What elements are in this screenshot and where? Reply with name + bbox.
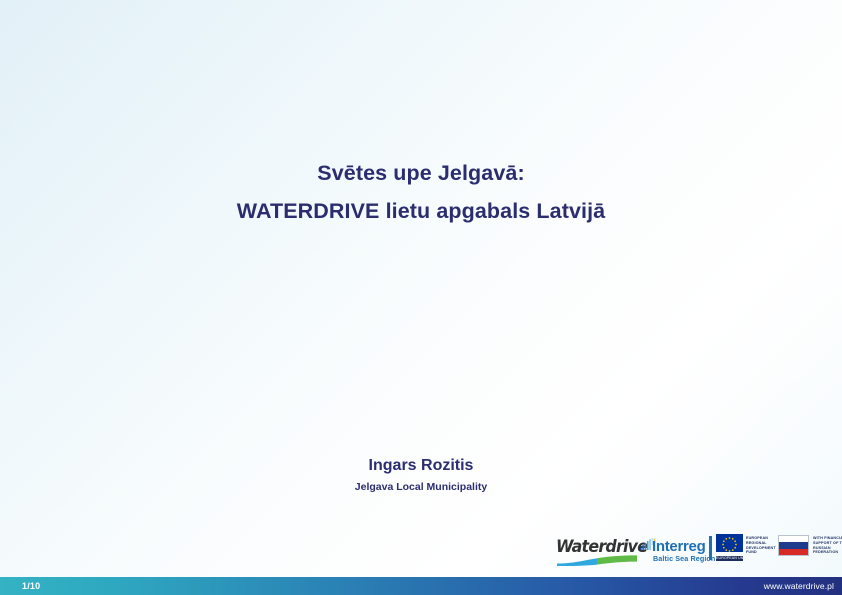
interreg-logo: Interreg Baltic Sea Region: [640, 534, 712, 568]
author-affiliation: Jelgava Local Municipality: [0, 479, 842, 495]
eu-fund-text: EUROPEAN REGIONAL DEVELOPMENT FUND: [746, 536, 776, 555]
interreg-wordmark: Interreg: [652, 538, 705, 555]
author-block: Ingars Rozitis Jelgava Local Municipalit…: [0, 455, 842, 495]
presentation-slide: Svētes upe Jelgavā: WATERDRIVE lietu apg…: [0, 0, 842, 595]
waterdrive-wordmark: Waterdrive: [556, 537, 635, 556]
title-block: Svētes upe Jelgavā: WATERDRIVE lietu apg…: [0, 158, 842, 227]
russian-flag-icon: [778, 535, 809, 556]
interreg-divider: [709, 536, 712, 560]
eu-fund-line-4: FUND: [746, 550, 776, 555]
russia-text-line-2: SUPPORT OF THE: [813, 541, 842, 546]
author-name: Ingars Rozitis: [0, 455, 842, 477]
page-indicator: 1/10: [22, 581, 40, 591]
russia-support-text: WITH FINANCIAL SUPPORT OF THE RUSSIAN FE…: [813, 536, 842, 555]
footer-url[interactable]: www.waterdrive.pl: [764, 581, 834, 591]
russia-text-line-4: FEDERATION: [813, 550, 842, 555]
eu-logo: EUROPEAN UNION EUROPEAN REGIONAL DEVELOP…: [716, 534, 773, 568]
eu-flag-caption: EUROPEAN UNION: [716, 556, 743, 561]
logo-strip: Waterdrive Interreg Baltic Sea Region: [556, 531, 840, 571]
waterdrive-wave-icon: [557, 555, 637, 566]
interreg-subtitle: Baltic Sea Region: [653, 554, 715, 563]
page-title-line-1: Svētes upe Jelgavā:: [0, 158, 842, 189]
eu-flag-wrap: EUROPEAN UNION: [716, 534, 743, 561]
russia-support-logo: WITH FINANCIAL SUPPORT OF THE RUSSIAN FE…: [778, 534, 842, 568]
eu-flag-icon: [716, 534, 743, 552]
flag-stripe-red: [779, 549, 808, 555]
page-title-line-2: WATERDRIVE lietu apgabals Latvijā: [0, 196, 842, 227]
footer-bar: 1/10 www.waterdrive.pl: [0, 577, 842, 595]
waterdrive-logo: Waterdrive: [556, 534, 638, 568]
